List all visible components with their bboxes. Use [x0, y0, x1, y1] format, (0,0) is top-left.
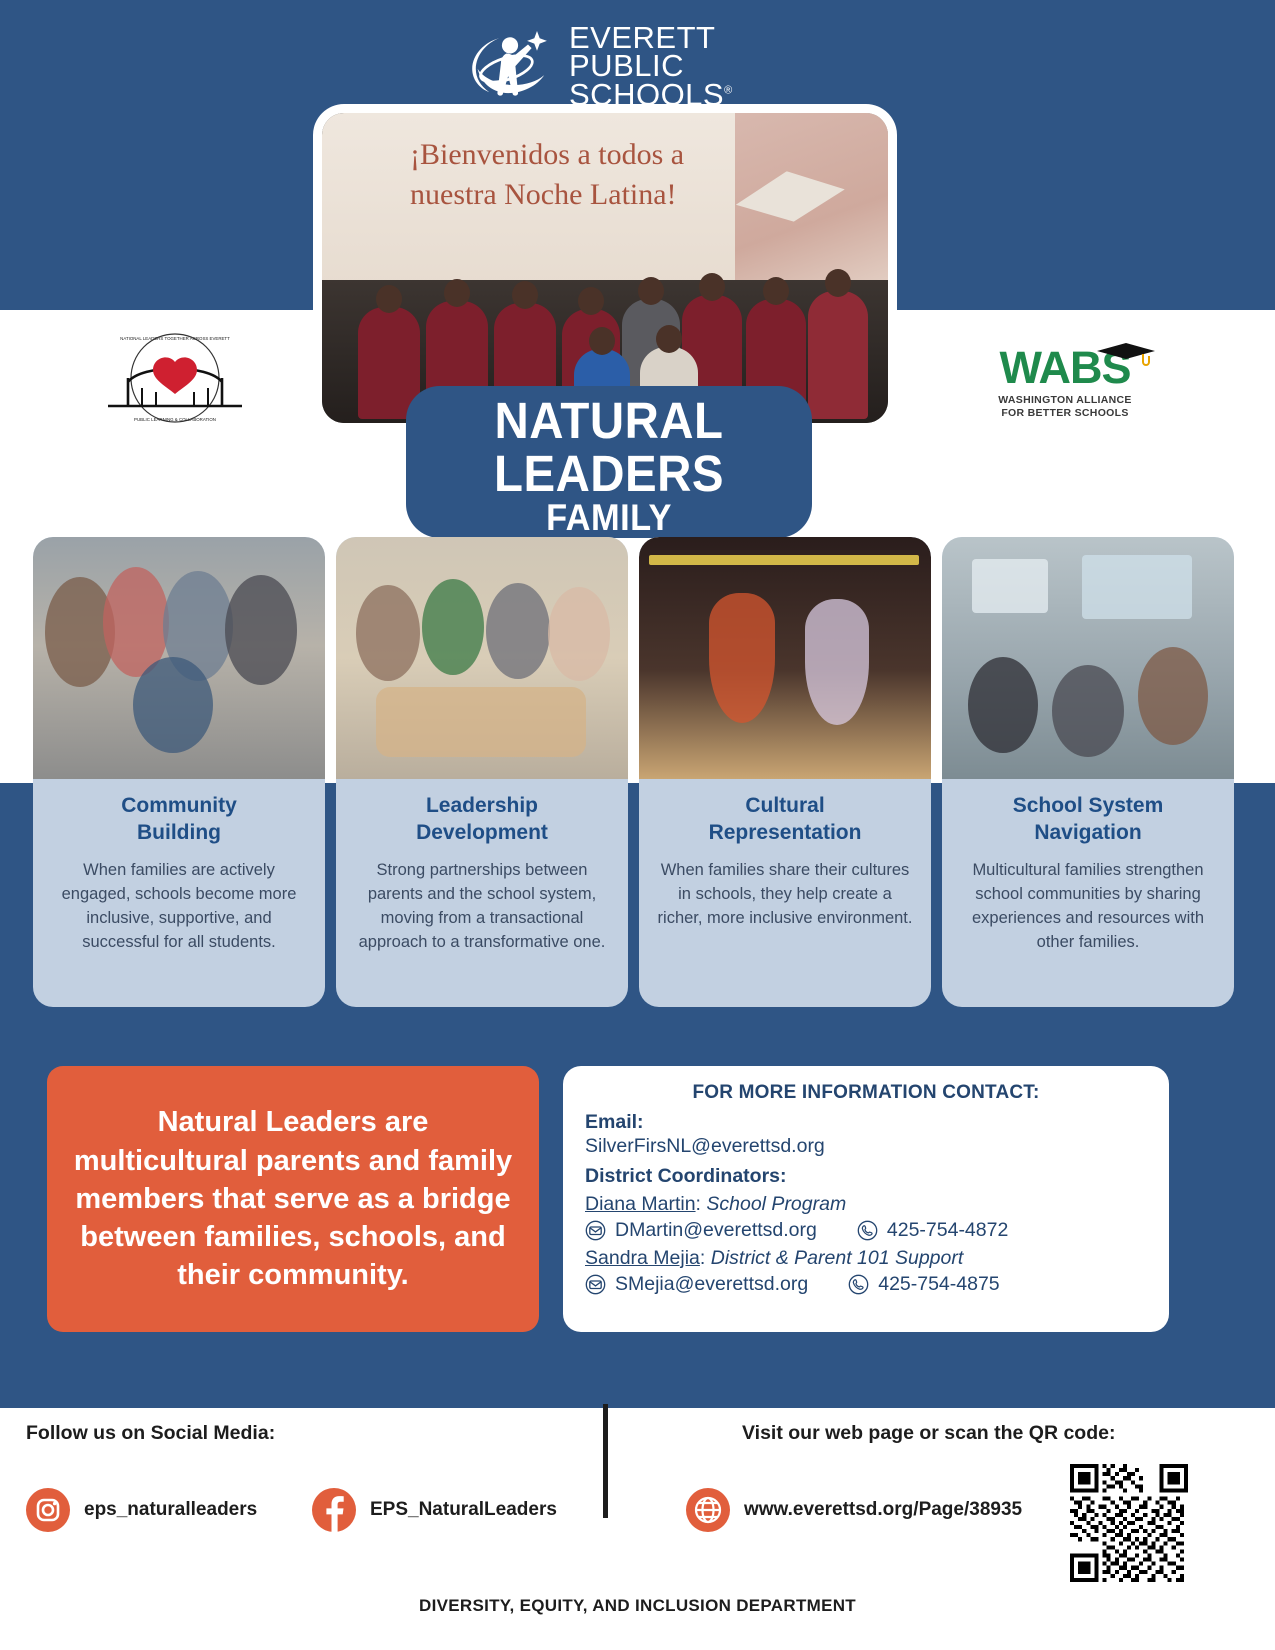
- card-heading-line-2: Navigation: [1034, 821, 1141, 844]
- phone-icon: [848, 1274, 869, 1295]
- wabs-line-1: WASHINGTON ALLIANCE: [965, 394, 1165, 407]
- social-media-title: Follow us on Social Media:: [26, 1422, 275, 1445]
- feature-card: Leadership Development Strong partnershi…: [336, 537, 628, 1007]
- mission-callout: Natural Leaders are multicultural parent…: [47, 1066, 539, 1332]
- projected-welcome-text: ¡Bienvenidos a todos a nuestra Noche Lat…: [410, 135, 710, 214]
- svg-text:PUBLIC LEARNING & COLLABORATIO: PUBLIC LEARNING & COLLABORATION: [134, 417, 216, 422]
- coordinator-phone[interactable]: 425-754-4875: [878, 1273, 999, 1296]
- contact-heading: FOR MORE INFORMATION CONTACT:: [585, 1082, 1147, 1104]
- facebook-icon: [312, 1488, 356, 1532]
- card-description: When families are actively engaged, scho…: [49, 859, 309, 955]
- card-body: Cultural Representation When families sh…: [639, 779, 931, 1007]
- phone-icon: [857, 1220, 878, 1241]
- natural-leaders-partner-logo: NATIONAL LEADERS TOGETHER ACROSS EVERETT…: [90, 332, 260, 422]
- coordinator-role: District & Parent 101 Support: [711, 1247, 964, 1269]
- feature-card: Community Building When families are act…: [33, 537, 325, 1007]
- website-url: www.everettsd.org/Page/38935: [744, 1499, 1022, 1521]
- website-link[interactable]: www.everettsd.org/Page/38935: [686, 1488, 1022, 1532]
- card-description: Multicultural families strengthen school…: [958, 859, 1218, 955]
- feature-card-row: Community Building When families are act…: [33, 537, 1242, 1007]
- web-page-title: Visit our web page or scan the QR code:: [742, 1422, 1115, 1445]
- feature-card: Cultural Representation When families sh…: [639, 537, 931, 1007]
- card-heading-line-1: Leadership: [426, 794, 538, 817]
- coordinator-contact-row: SMejia@everettsd.org 425-754-4875: [585, 1273, 1147, 1296]
- coordinator-email[interactable]: DMartin@everettsd.org: [615, 1219, 817, 1242]
- feature-card: School System Navigation Multicultural f…: [942, 537, 1234, 1007]
- registered-mark: ®: [724, 84, 733, 96]
- envelope-icon: [585, 1274, 606, 1295]
- title-line-1: NATURAL LEADERS: [420, 394, 798, 500]
- card-heading-line-1: Cultural: [745, 794, 824, 817]
- card-description: When families share their cultures in sc…: [655, 859, 915, 931]
- wabs-line-2: FOR BETTER SCHOOLS: [965, 407, 1165, 420]
- facebook-handle: EPS_NaturalLeaders: [370, 1499, 557, 1521]
- facebook-link[interactable]: EPS_NaturalLeaders: [312, 1488, 557, 1532]
- coordinator-name-row: Diana Martin: School Program: [585, 1193, 1147, 1216]
- coordinator-role: School Program: [706, 1193, 846, 1215]
- card-body: School System Navigation Multicultural f…: [942, 779, 1234, 1007]
- footer-divider: [603, 1404, 608, 1518]
- qr-code[interactable]: [1070, 1464, 1188, 1582]
- coordinator-email[interactable]: SMejia@everettsd.org: [615, 1273, 808, 1296]
- coordinators-label: District Coordinators:: [585, 1165, 1147, 1188]
- card-heading-line-1: School System: [1013, 794, 1164, 817]
- instagram-icon: [26, 1488, 70, 1532]
- card-heading-line-2: Building: [137, 821, 221, 844]
- coordinator-name: Diana Martin: [585, 1193, 696, 1215]
- coordinator-separator: :: [700, 1247, 705, 1269]
- coordinator-name: Sandra Mejia: [585, 1247, 700, 1269]
- instagram-handle: eps_naturalleaders: [84, 1499, 257, 1521]
- card-photo-cultural-representation: [639, 537, 931, 779]
- hero-photo: ¡Bienvenidos a todos a nuestra Noche Lat…: [322, 113, 888, 423]
- graduation-cap-icon: [1095, 341, 1157, 367]
- card-photo-school-system-navigation: [942, 537, 1234, 779]
- district-logo-text: EVERETT PUBLIC SCHOOLS®: [569, 24, 733, 110]
- mission-callout-text: Natural Leaders are multicultural parent…: [69, 1103, 517, 1294]
- globe-icon: [686, 1488, 730, 1532]
- program-email[interactable]: SilverFirsNL@everettsd.org: [585, 1135, 1147, 1158]
- card-description: Strong partnerships between parents and …: [352, 859, 612, 955]
- bridge-heart-icon: NATIONAL LEADERS TOGETHER ACROSS EVERETT…: [90, 332, 260, 424]
- everett-public-schools-star-globe-icon: [465, 21, 555, 113]
- coordinator-contact-row: DMartin@everettsd.org 425-754-4872: [585, 1219, 1147, 1242]
- card-body: Community Building When families are act…: [33, 779, 325, 1007]
- coordinator-name-row: Sandra Mejia: District & Parent 101 Supp…: [585, 1247, 1147, 1270]
- card-heading-line-2: Development: [416, 821, 548, 844]
- instagram-link[interactable]: eps_naturalleaders: [26, 1488, 257, 1532]
- card-photo-leadership-development: [336, 537, 628, 779]
- card-body: Leadership Development Strong partnershi…: [336, 779, 628, 1007]
- card-heading-line-2: Representation: [709, 821, 862, 844]
- poster-title: NATURAL LEADERS FAMILY ENGAGEMENT SILVER…: [406, 386, 812, 538]
- svg-text:NATIONAL LEADERS TOGETHER ACRO: NATIONAL LEADERS TOGETHER ACROSS EVERETT: [120, 336, 230, 341]
- wabs-partner-logo: WABS WASHINGTON ALLIANCE FOR BETTER SCHO…: [965, 345, 1165, 425]
- email-label: Email:: [585, 1111, 1147, 1134]
- logo-line-3: SCHOOLS: [569, 77, 724, 112]
- envelope-icon: [585, 1220, 606, 1241]
- coordinator-phone[interactable]: 425-754-4872: [887, 1219, 1008, 1242]
- department-footer: DIVERSITY, EQUITY, AND INCLUSION DEPARTM…: [0, 1596, 1275, 1616]
- contact-card: FOR MORE INFORMATION CONTACT: Email: Sil…: [563, 1066, 1169, 1332]
- card-photo-community-building: [33, 537, 325, 779]
- district-logo: EVERETT PUBLIC SCHOOLS®: [465, 14, 815, 119]
- card-heading-line-1: Community: [121, 794, 237, 817]
- coordinator-separator: :: [696, 1193, 701, 1215]
